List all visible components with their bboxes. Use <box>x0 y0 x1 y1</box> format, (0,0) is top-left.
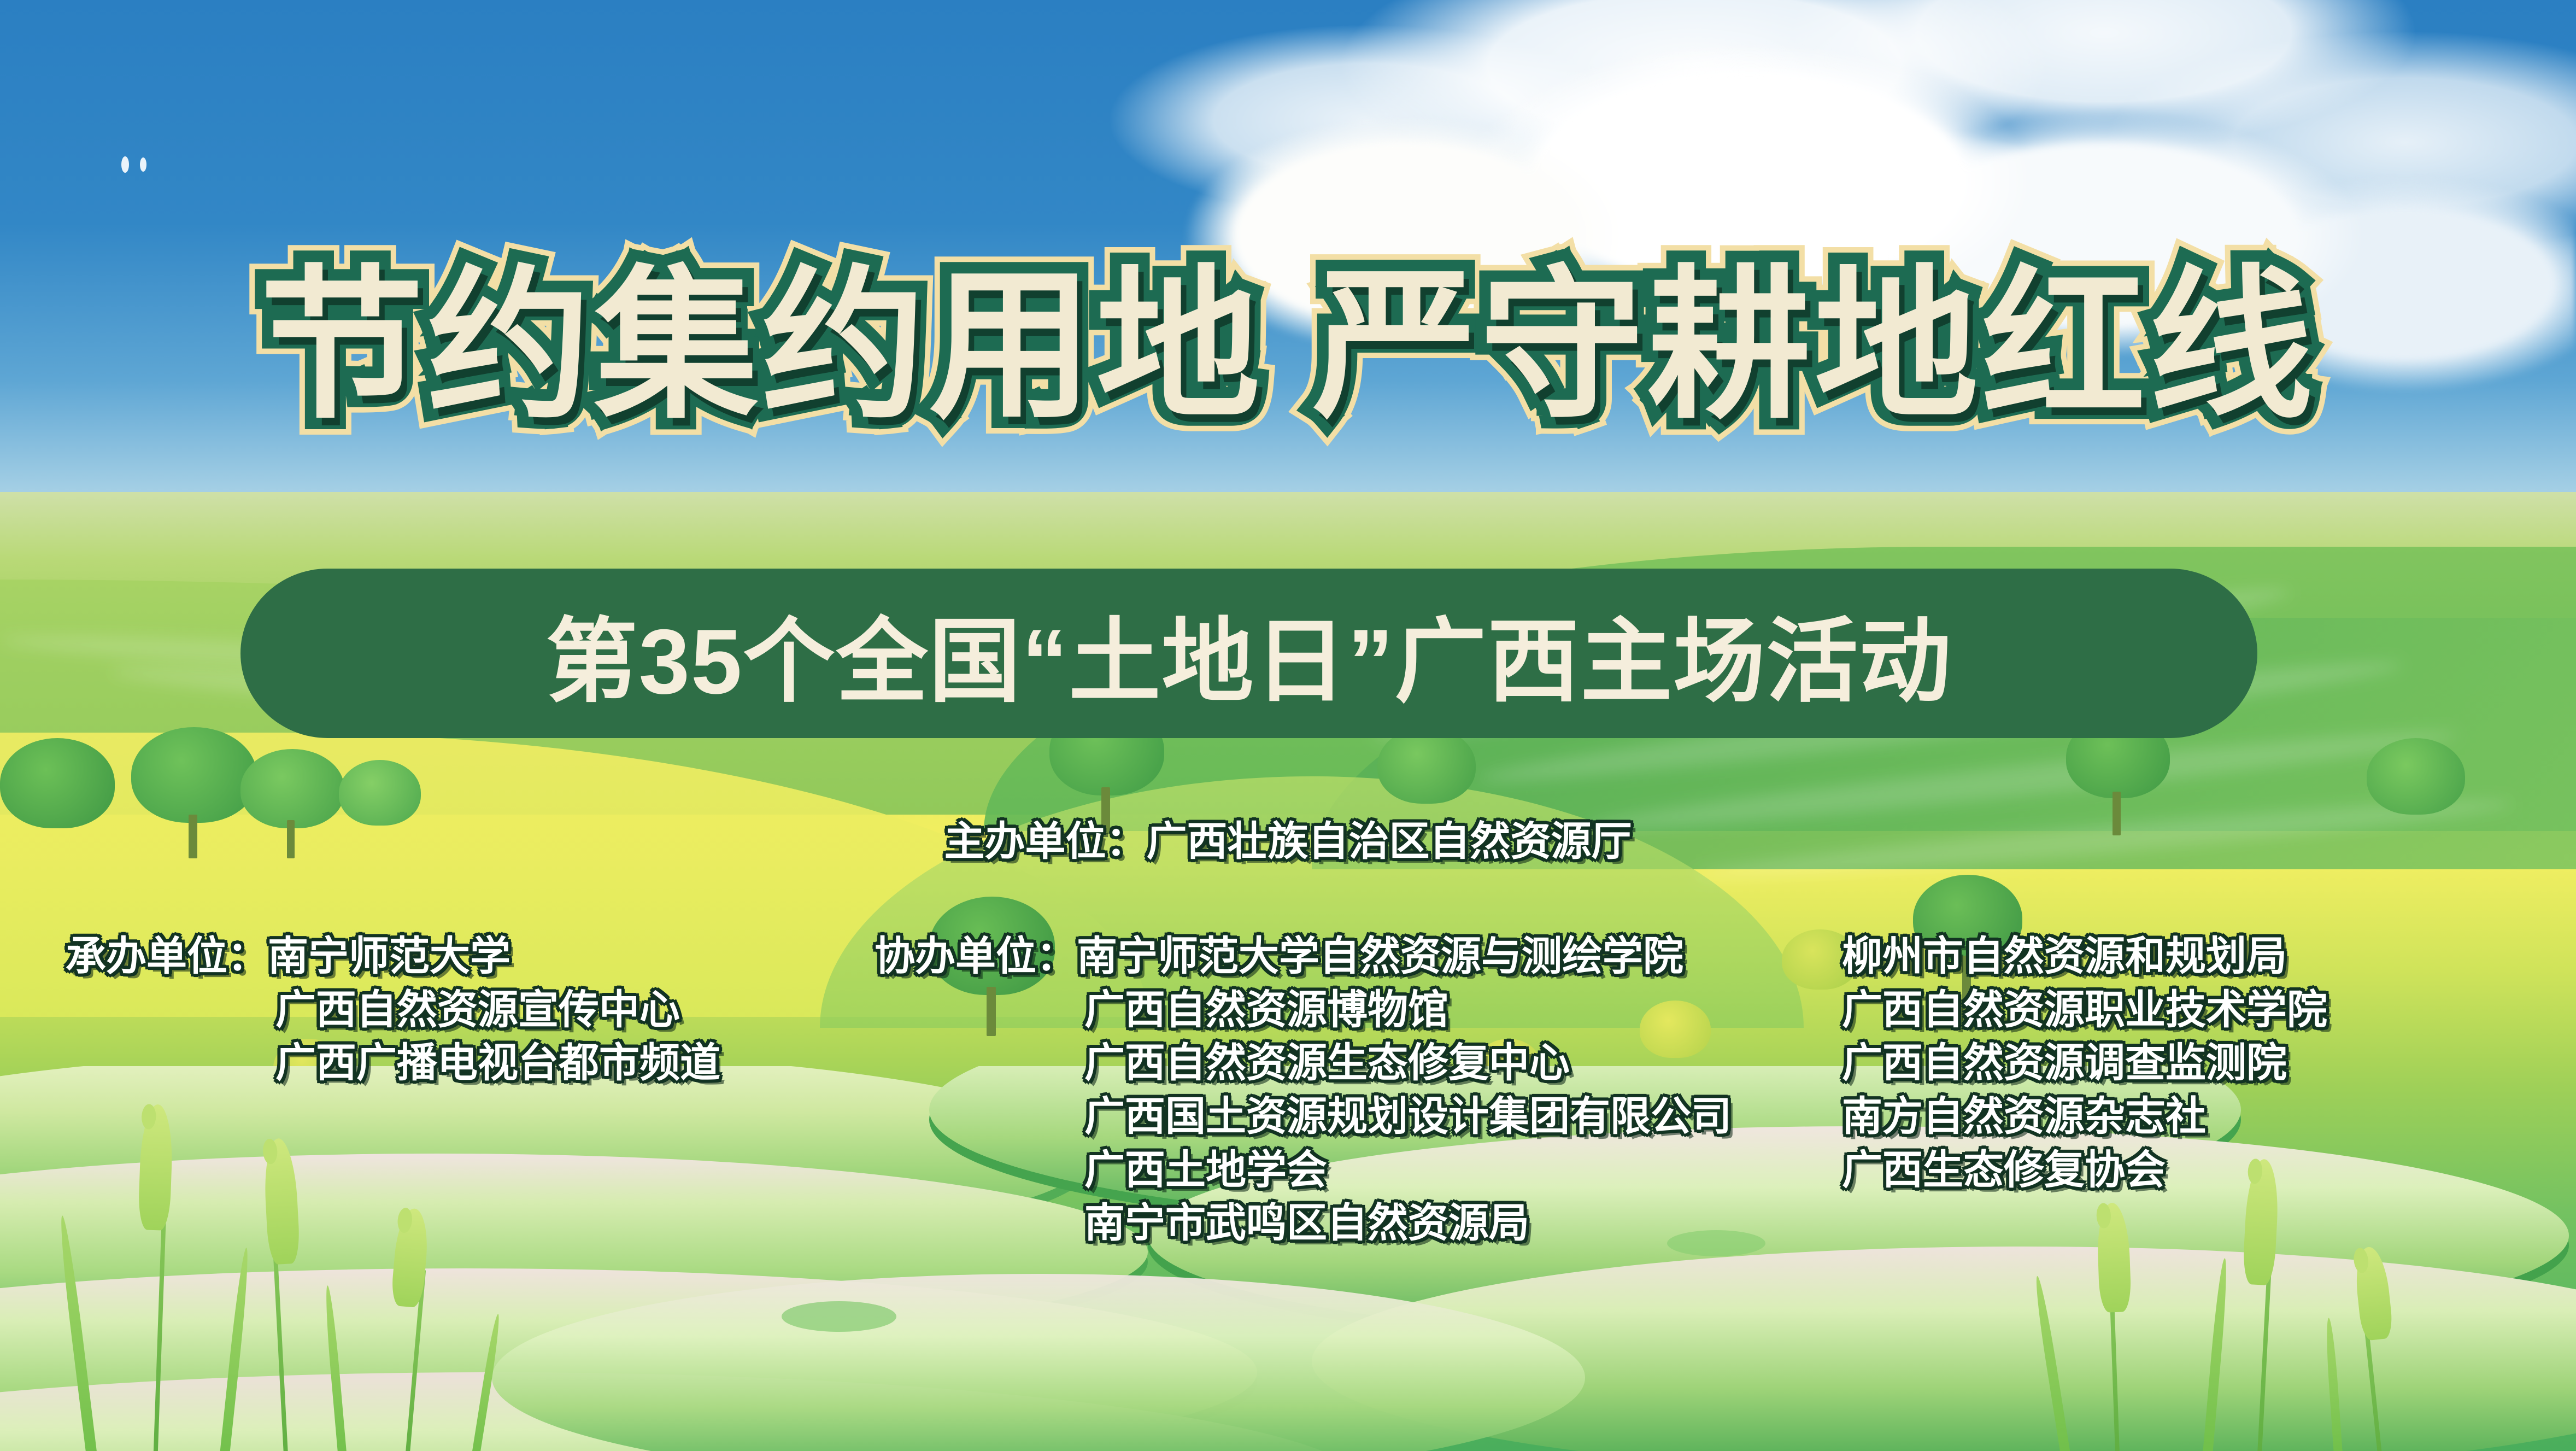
tree-icon <box>1377 727 1476 804</box>
organizer-first-line: 承办单位：南宁师范大学 <box>66 929 720 983</box>
co-organizer-item: 南宁市武鸣区自然资源局 <box>875 1196 1732 1250</box>
sparkle-icon <box>140 157 146 172</box>
sparkle-icon <box>121 156 129 173</box>
co-organizer-item: 广西自然资源博物馆 <box>875 983 1732 1037</box>
co-organizer-label: 协办单位： <box>875 933 1077 979</box>
supporter-item: 广西自然资源调查监测院 <box>1842 1036 2327 1090</box>
main-title-part1: 节约集约用地 <box>260 254 1264 437</box>
subtitle-banner: 第35个全国“土地日”广西主场活动 <box>240 569 2257 738</box>
co-organizer-item: 广西自然资源生态修复中心 <box>875 1036 1732 1090</box>
organizer-item: 广西自然资源宣传中心 <box>66 983 720 1037</box>
subtitle-text: 第35个全国“土地日”广西主场活动 <box>240 569 2257 738</box>
supporter-item: 广西生态修复协会 <box>1842 1143 2327 1197</box>
organizer-item: 广西广播电视台都市频道 <box>66 1036 720 1090</box>
wheat-cluster <box>1995 1192 2487 1451</box>
organizer-column: 承办单位：南宁师范大学 广西自然资源宣传中心 广西广播电视台都市频道 <box>66 929 720 1090</box>
tree-icon <box>131 727 257 823</box>
co-organizer-first: 南宁师范大学自然资源与测绘学院 <box>1077 933 1683 979</box>
main-title-part2: 严守耕地红线 <box>1313 254 2316 437</box>
organizer-label: 承办单位： <box>66 933 268 979</box>
tree-icon <box>2367 738 2465 815</box>
supporter-item: 南方自然资源杂志社 <box>1842 1090 2327 1143</box>
supporters-column: 柳州市自然资源和规划局 广西自然资源职业技术学院 广西自然资源调查监测院 南方自… <box>1842 929 2327 1196</box>
co-organizer-item: 广西土地学会 <box>875 1143 1732 1197</box>
co-organizer-first-line: 协办单位：南宁师范大学自然资源与测绘学院 <box>875 929 1732 983</box>
terrace-pond <box>782 1301 896 1332</box>
wheat-cluster <box>55 1104 547 1451</box>
co-organizer-item: 广西国土资源规划设计集团有限公司 <box>875 1090 1732 1143</box>
co-organizer-column: 协办单位：南宁师范大学自然资源与测绘学院 广西自然资源博物馆 广西自然资源生态修… <box>875 929 1732 1250</box>
supporter-item: 柳州市自然资源和规划局 <box>1842 929 2327 983</box>
poster-canvas: 节约集约用地严守耕地红线 节约集约用地严守耕地红线 节约集约用地严守耕地红线 节… <box>0 0 2576 1451</box>
host-line: 主办单位：广西壮族自治区自然资源厅 <box>0 815 2576 868</box>
organizer-first: 南宁师范大学 <box>268 933 510 979</box>
supporter-item: 广西自然资源职业技术学院 <box>1842 983 2327 1037</box>
